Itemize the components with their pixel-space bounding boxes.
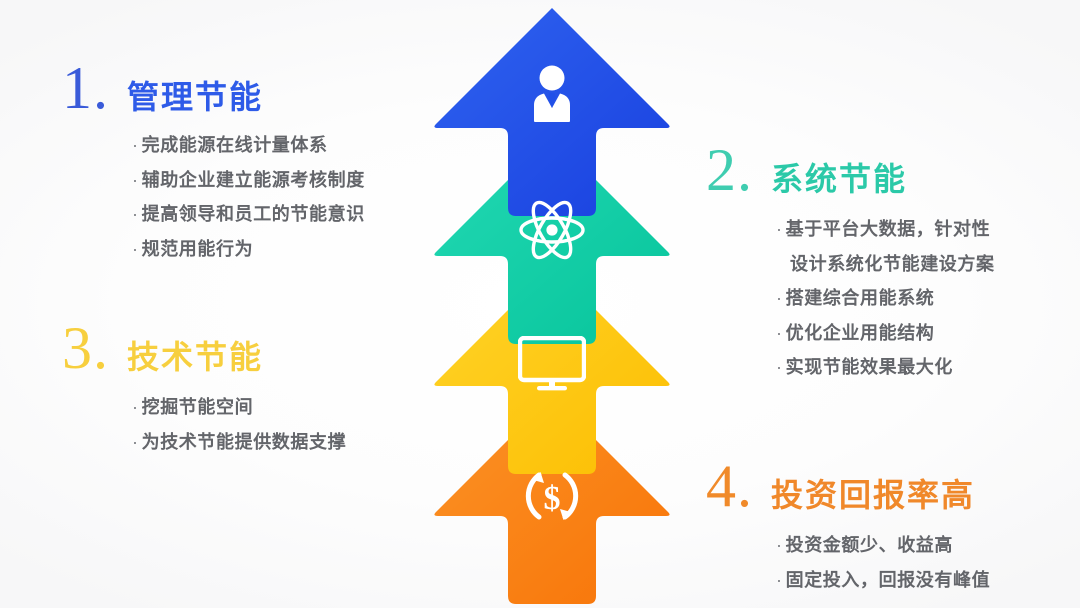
bullet-list: ·完成能源在线计量体系 ·辅助企业建立能源考核制度 ·提高领导和员工的节能意识 … xyxy=(132,128,365,266)
list-item-text: 提高领导和员工的节能意识 xyxy=(142,204,365,224)
section-title: 系统节能 xyxy=(771,163,907,195)
bullet-list: ·投资金额少、收益高 ·固定投入，回报没有峰值 xyxy=(776,528,990,597)
section-heading: 1. 管理节能 xyxy=(62,58,365,118)
list-item-text: 挖掘节能空间 xyxy=(142,397,254,417)
section-investment: 4. 投资回报率高 ·投资金额少、收益高 ·固定投入，回报没有峰值 xyxy=(706,456,990,597)
list-item: ·实现节能效果最大化 xyxy=(776,350,995,385)
bullet-glyph: · xyxy=(776,219,783,239)
list-item-text: 实现节能效果最大化 xyxy=(786,357,953,377)
list-item-text: 完成能源在线计量体系 xyxy=(142,135,328,155)
list-item-text: 辅助企业建立能源考核制度 xyxy=(142,170,365,190)
bullet-glyph: · xyxy=(132,135,139,155)
list-item: ·固定投入，回报没有峰值 xyxy=(776,563,990,598)
list-item: ·投资金额少、收益高 xyxy=(776,528,990,563)
bullet-glyph: · xyxy=(132,397,139,417)
list-item: ·辅助企业建立能源考核制度 xyxy=(132,163,365,198)
list-item: ·优化企业用能结构 xyxy=(776,316,995,351)
section-heading: 3. 技术节能 xyxy=(62,318,346,378)
bullet-glyph: · xyxy=(132,239,139,259)
bullet-glyph: · xyxy=(132,170,139,190)
section-heading: 2. 系统节能 xyxy=(706,140,995,200)
list-item: ·挖掘节能空间 xyxy=(132,390,346,425)
arrow-management xyxy=(432,4,672,220)
infographic-poster: $ 1. 管理节能 ·完成能源在线计量体系 ·辅助企业建立能源考核制度 ·提高领… xyxy=(0,0,1080,608)
section-technology: 3. 技术节能 ·挖掘节能空间 ·为技术节能提供数据支撑 xyxy=(62,318,346,459)
bullet-glyph: · xyxy=(776,570,783,590)
section-number: 4. xyxy=(706,456,753,516)
list-item-text: 投资金额少、收益高 xyxy=(786,535,953,555)
section-system: 2. 系统节能 ·基于平台大数据，针对性 设计系统化节能建设方案 ·搭建综合用能… xyxy=(706,140,995,385)
bullet-glyph: · xyxy=(776,288,783,308)
list-item-text: 基于平台大数据，针对性 xyxy=(786,219,991,239)
section-title: 投资回报率高 xyxy=(771,479,975,511)
bullet-glyph: · xyxy=(132,204,139,224)
bullet-glyph: · xyxy=(776,357,783,377)
list-item-continuation: 设计系统化节能建设方案 xyxy=(776,247,995,282)
bullet-glyph: · xyxy=(776,535,783,555)
list-item: ·提高领导和员工的节能意识 xyxy=(132,197,365,232)
list-item: ·规范用能行为 xyxy=(132,232,365,267)
bullet-list: ·基于平台大数据，针对性 设计系统化节能建设方案 ·搭建综合用能系统 ·优化企业… xyxy=(776,212,995,385)
section-title: 管理节能 xyxy=(127,81,263,113)
list-item-text: 设计系统化节能建设方案 xyxy=(790,254,995,274)
section-number: 1. xyxy=(62,58,109,118)
list-item-text: 为技术节能提供数据支撑 xyxy=(142,432,347,452)
list-item: ·基于平台大数据，针对性 xyxy=(776,212,995,247)
section-title: 技术节能 xyxy=(127,341,263,373)
list-item-text: 规范用能行为 xyxy=(142,239,254,259)
bullet-glyph: · xyxy=(776,323,783,343)
list-item: ·搭建综合用能系统 xyxy=(776,281,995,316)
bullet-glyph: · xyxy=(132,432,139,452)
list-item-text: 优化企业用能结构 xyxy=(786,323,935,343)
list-item: ·完成能源在线计量体系 xyxy=(132,128,365,163)
arrow-stack: $ xyxy=(432,0,672,608)
bullet-list: ·挖掘节能空间 ·为技术节能提供数据支撑 xyxy=(132,390,346,459)
section-management: 1. 管理节能 ·完成能源在线计量体系 ·辅助企业建立能源考核制度 ·提高领导和… xyxy=(62,58,365,266)
section-heading: 4. 投资回报率高 xyxy=(706,456,990,516)
list-item-text: 搭建综合用能系统 xyxy=(786,288,935,308)
section-number: 2. xyxy=(706,140,753,200)
list-item: ·为技术节能提供数据支撑 xyxy=(132,425,346,460)
section-number: 3. xyxy=(62,318,109,378)
list-item-text: 固定投入，回报没有峰值 xyxy=(786,570,991,590)
